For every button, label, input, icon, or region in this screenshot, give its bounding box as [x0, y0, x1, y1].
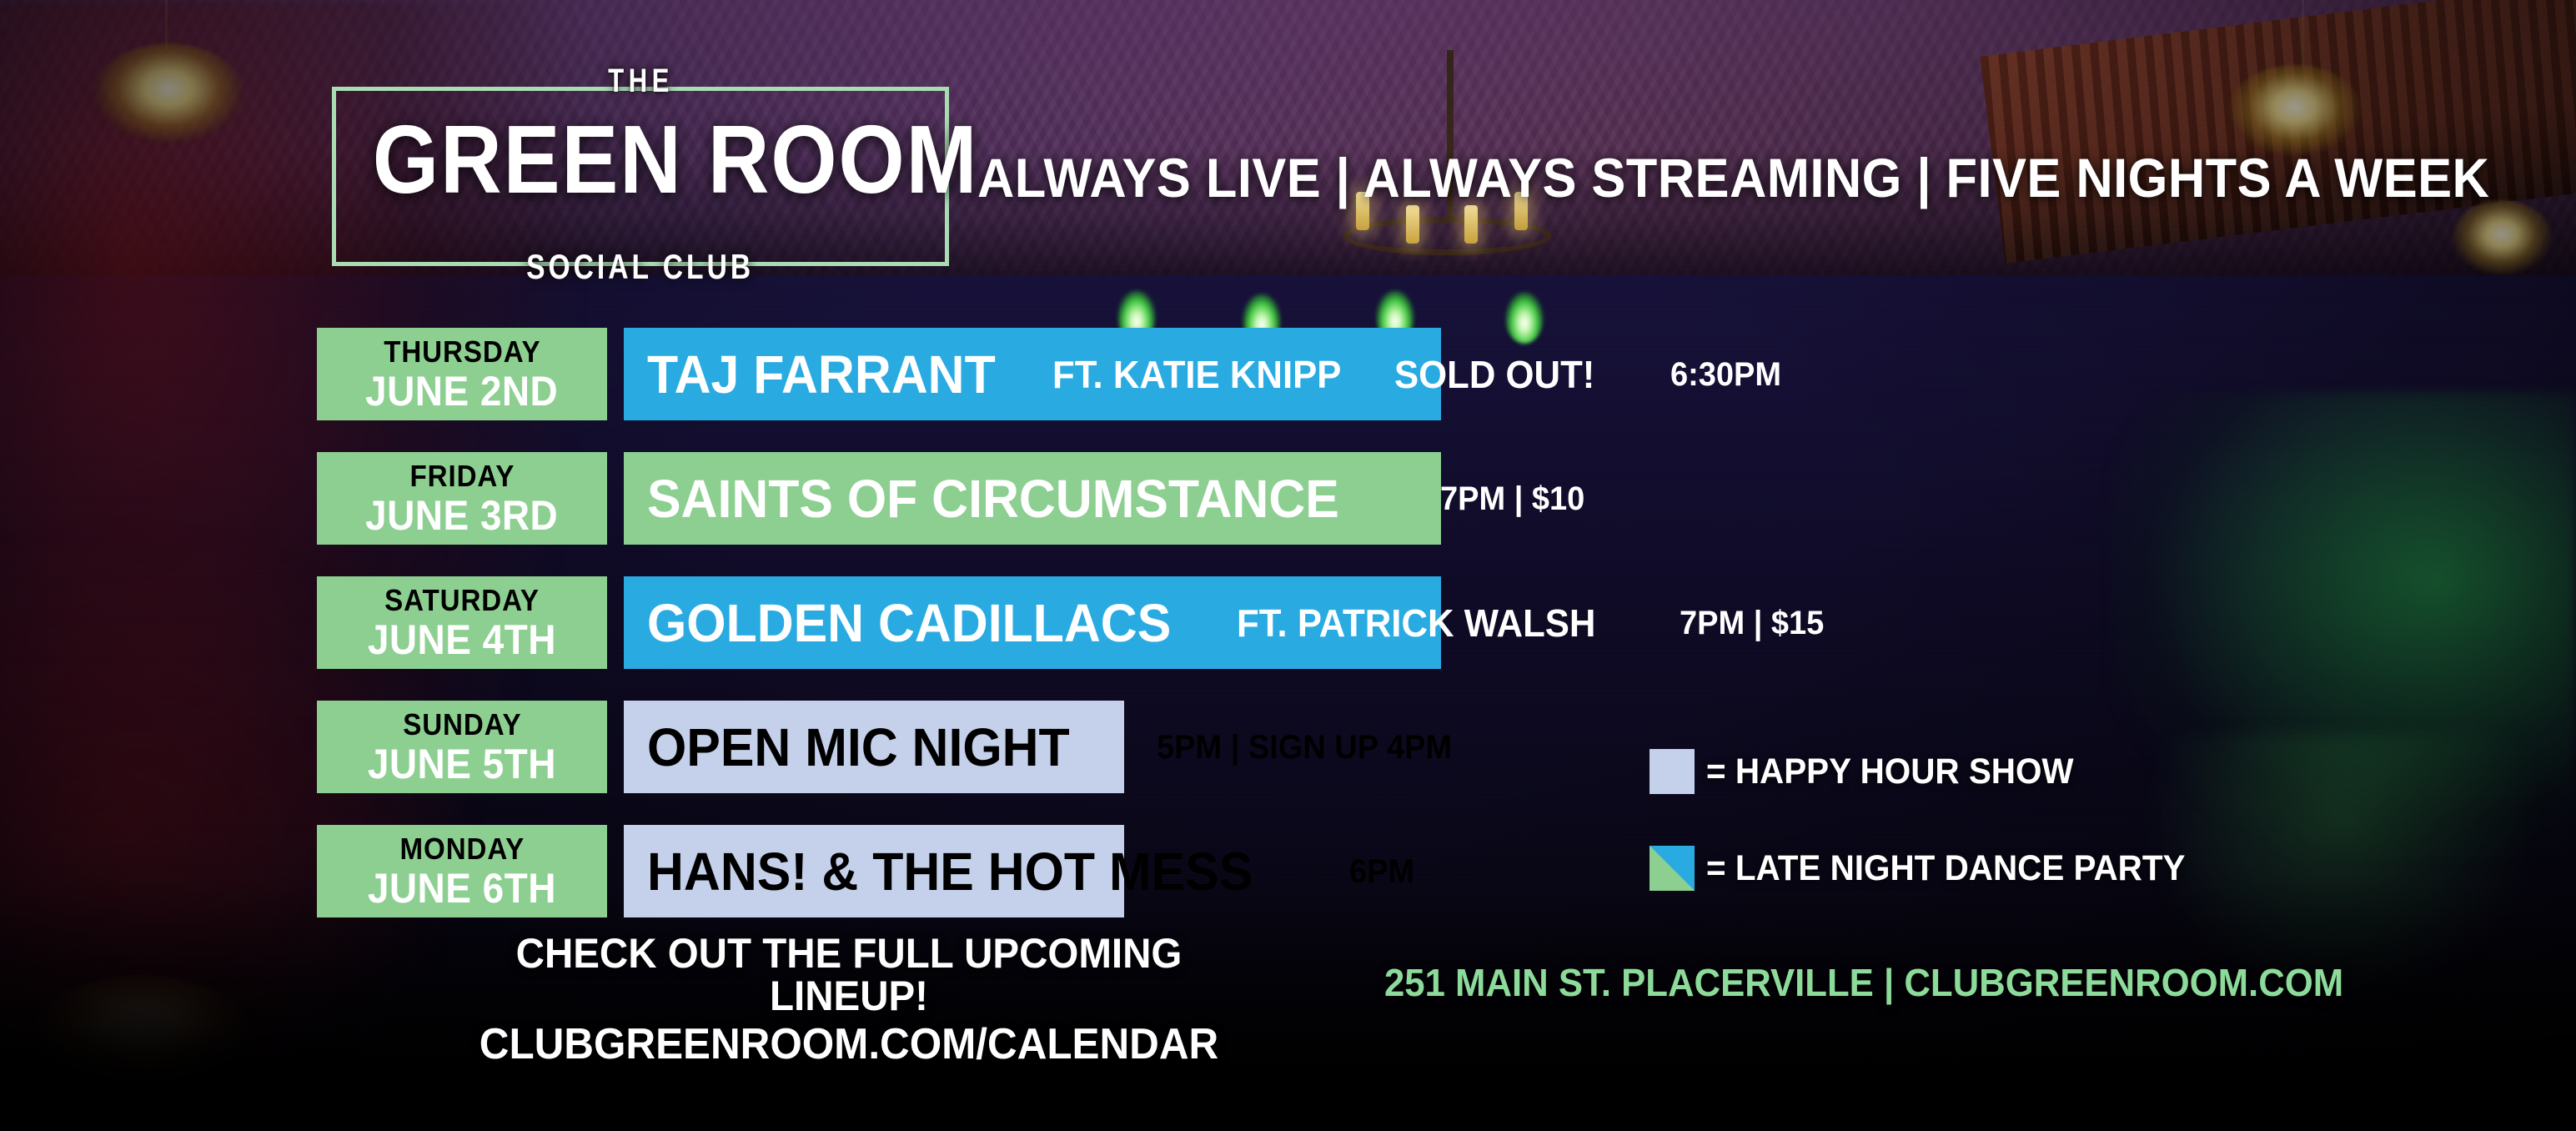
event-bar[interactable]: GOLDEN CADILLACSFT. PATRICK WALSH7PM | $… [624, 576, 1441, 669]
logo: THE GREEN ROOM SOCIAL CLUB [332, 87, 949, 266]
event-bar[interactable]: OPEN MIC NIGHT5PM | SIGN UP 4PM [624, 701, 1124, 793]
event-bar[interactable]: TAJ FARRANTFT. KATIE KNIPPSOLD OUT!6:30P… [624, 328, 1441, 420]
date-box: FRIDAYJUNE 3RD [317, 452, 607, 545]
date-date: JUNE 5TH [368, 743, 556, 785]
event-bar[interactable]: SAINTS OF CIRCUMSTANCE7PM | $10 [624, 452, 1441, 545]
footer-address[interactable]: 251 MAIN ST. PLACERVILLE | CLUBGREENROOM… [1384, 963, 2224, 1002]
event-artist: HANS! & THE HOT MESS [647, 845, 1253, 898]
date-box: SATURDAYJUNE 4TH [317, 576, 607, 669]
event-time: 7PM | $10 [1440, 482, 1584, 515]
date-box: SUNDAYJUNE 5TH [317, 701, 607, 793]
footer-cta-line1: CHECK OUT THE FULL UPCOMING LINEUP! [445, 932, 1253, 1018]
logo-the-text: THE [590, 63, 690, 100]
date-day: THURSDAY [384, 337, 540, 367]
event-artist: GOLDEN CADILLACS [647, 596, 1171, 650]
date-date: JUNE 4TH [368, 619, 556, 661]
footer-cta-url[interactable]: CLUBGREENROOM.COM/CALENDAR [445, 1023, 1253, 1067]
footer-cta: CHECK OUT THE FULL UPCOMING LINEUP! CLUB… [424, 932, 1274, 1067]
event-time: 5PM | SIGN UP 4PM [1157, 731, 1452, 764]
legend-swatch-icon [1650, 749, 1695, 794]
tagline: ALWAYS LIVE | ALWAYS STREAMING | FIVE NI… [977, 150, 2157, 205]
legend-label: = HAPPY HOUR SHOW [1706, 754, 2074, 790]
date-day: SATURDAY [384, 586, 540, 616]
logo-subtitle: SOCIAL CLUB [336, 247, 945, 287]
date-date: JUNE 6TH [368, 867, 556, 909]
date-box: THURSDAYJUNE 2ND [317, 328, 607, 420]
event-artist: TAJ FARRANT [647, 348, 996, 401]
logo-subtitle-text: SOCIAL CLUB [512, 247, 769, 287]
date-day: SUNDAY [403, 710, 521, 740]
logo-name: GREEN ROOM [373, 111, 908, 208]
event-time: 6:30PM [1670, 358, 1781, 391]
event-time: 6PM [1349, 855, 1414, 888]
legend-item: = LATE NIGHT DANCE PARTY [1650, 846, 2216, 891]
legend-label: = LATE NIGHT DANCE PARTY [1706, 851, 2186, 887]
date-date: JUNE 2ND [365, 370, 558, 412]
event-featuring: FT. KATIE KNIPP [1052, 355, 1341, 394]
event-artist: OPEN MIC NIGHT [647, 721, 1070, 774]
date-box: MONDAYJUNE 6TH [317, 825, 607, 917]
event-note: SOLD OUT! [1394, 355, 1594, 394]
date-date: JUNE 3RD [365, 495, 558, 536]
legend-swatch-split-icon [1650, 846, 1695, 891]
event-featuring: FT. PATRICK WALSH [1237, 604, 1595, 642]
logo-the: THE [336, 63, 945, 100]
date-day: MONDAY [399, 834, 525, 864]
event-time: 7PM | $15 [1680, 606, 1824, 640]
legend-item: = HAPPY HOUR SHOW [1650, 749, 2216, 794]
date-day: FRIDAY [409, 461, 515, 491]
event-artist: SAINTS OF CIRCUMSTANCE [647, 472, 1339, 525]
legend: = HAPPY HOUR SHOW= LATE NIGHT DANCE PART… [1650, 749, 2216, 942]
event-bar[interactable]: HANS! & THE HOT MESS6PM [624, 825, 1124, 917]
